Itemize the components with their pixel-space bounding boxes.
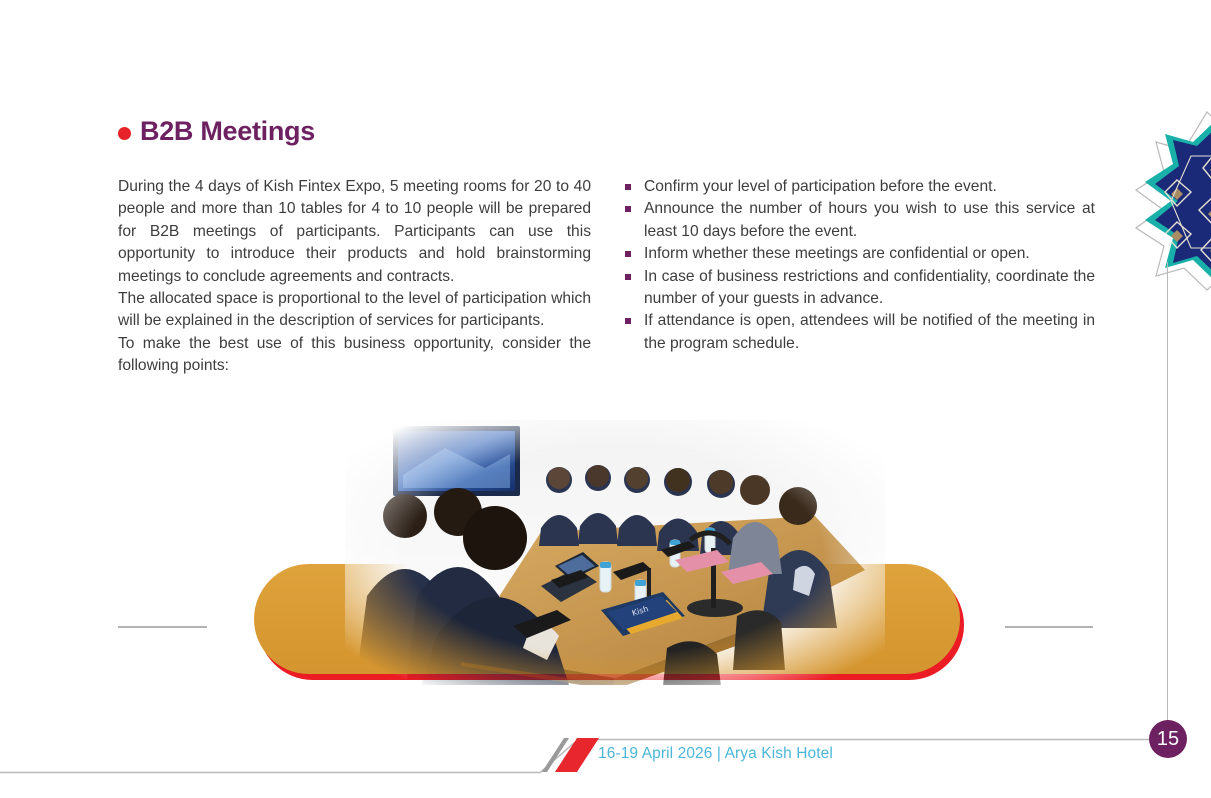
- square-bullet-icon: [625, 251, 631, 257]
- decorative-rule-left: [118, 626, 207, 628]
- paragraph: During the 4 days of Kish Fintex Expo, 5…: [118, 176, 591, 288]
- list-item: Confirm your level of participation befo…: [625, 176, 1095, 198]
- square-bullet-icon: [625, 318, 631, 324]
- page-number-badge: 15: [1149, 720, 1187, 758]
- list-item-text: In case of business restrictions and con…: [644, 266, 1095, 311]
- slide-page: B2B Meetings During the 4 days of Kish F…: [0, 0, 1211, 798]
- paragraph: The allocated space is proportional to t…: [118, 288, 591, 333]
- page-title-text: B2B Meetings: [140, 118, 315, 145]
- list-item-text: If attendance is open, attendees will be…: [644, 310, 1095, 355]
- right-bullet-column: Confirm your level of participation befo…: [625, 176, 1095, 355]
- list-item: In case of business restrictions and con…: [625, 266, 1095, 311]
- list-item-text: Announce the number of hours you wish to…: [644, 198, 1095, 243]
- decorative-rule-right: [1005, 626, 1093, 628]
- list-item: If attendance is open, attendees will be…: [625, 310, 1095, 355]
- page-title: B2B Meetings: [118, 118, 315, 145]
- persian-star-tile-ornament: [1121, 108, 1211, 293]
- badge-connector-line: [1093, 739, 1153, 740]
- footer-event-info: 16-19 April 2026 | Arya Kish Hotel: [598, 745, 833, 763]
- left-text-column: During the 4 days of Kish Fintex Expo, 5…: [118, 176, 591, 378]
- list-item-text: Inform whether these meetings are confid…: [644, 243, 1095, 265]
- red-dot-icon: [118, 127, 131, 140]
- square-bullet-icon: [625, 274, 631, 280]
- ornament-vertical-rule: [1167, 262, 1168, 730]
- square-bullet-icon: [625, 184, 631, 190]
- list-item: Announce the number of hours you wish to…: [625, 198, 1095, 243]
- list-item: Inform whether these meetings are confid…: [625, 243, 1095, 265]
- business-meeting-photo: Kish: [345, 420, 885, 685]
- figure-composition: Kish: [250, 420, 970, 715]
- paragraph: To make the best use of this business op…: [118, 333, 591, 378]
- list-item-text: Confirm your level of participation befo…: [644, 176, 1095, 198]
- square-bullet-icon: [625, 206, 631, 212]
